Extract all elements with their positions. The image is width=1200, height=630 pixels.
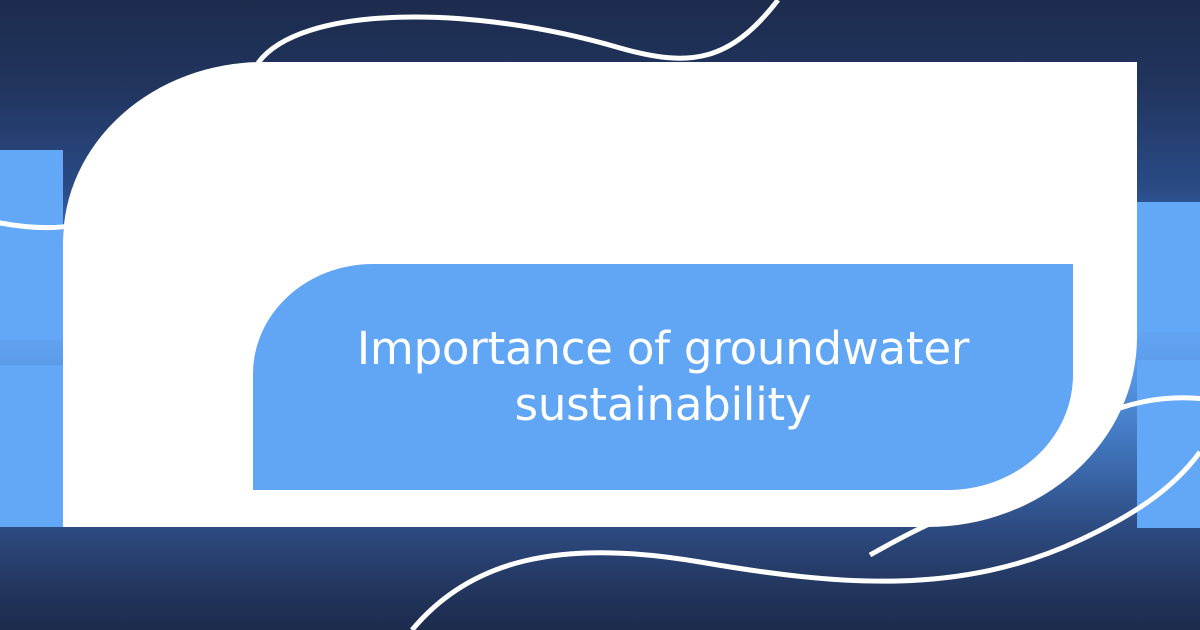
- content-card: Importance of groundwater sustainability: [63, 62, 1137, 527]
- right-band-bottom: [1137, 360, 1200, 528]
- left-band-top: [0, 150, 63, 228]
- poster-canvas: Importance of groundwater sustainability: [0, 0, 1200, 630]
- page-title: Importance of groundwater sustainability: [313, 321, 1013, 434]
- left-band-bottom: [0, 365, 63, 527]
- right-band-top: [1137, 202, 1200, 332]
- left-band-middle: [0, 228, 63, 340]
- title-panel: Importance of groundwater sustainability: [253, 264, 1073, 490]
